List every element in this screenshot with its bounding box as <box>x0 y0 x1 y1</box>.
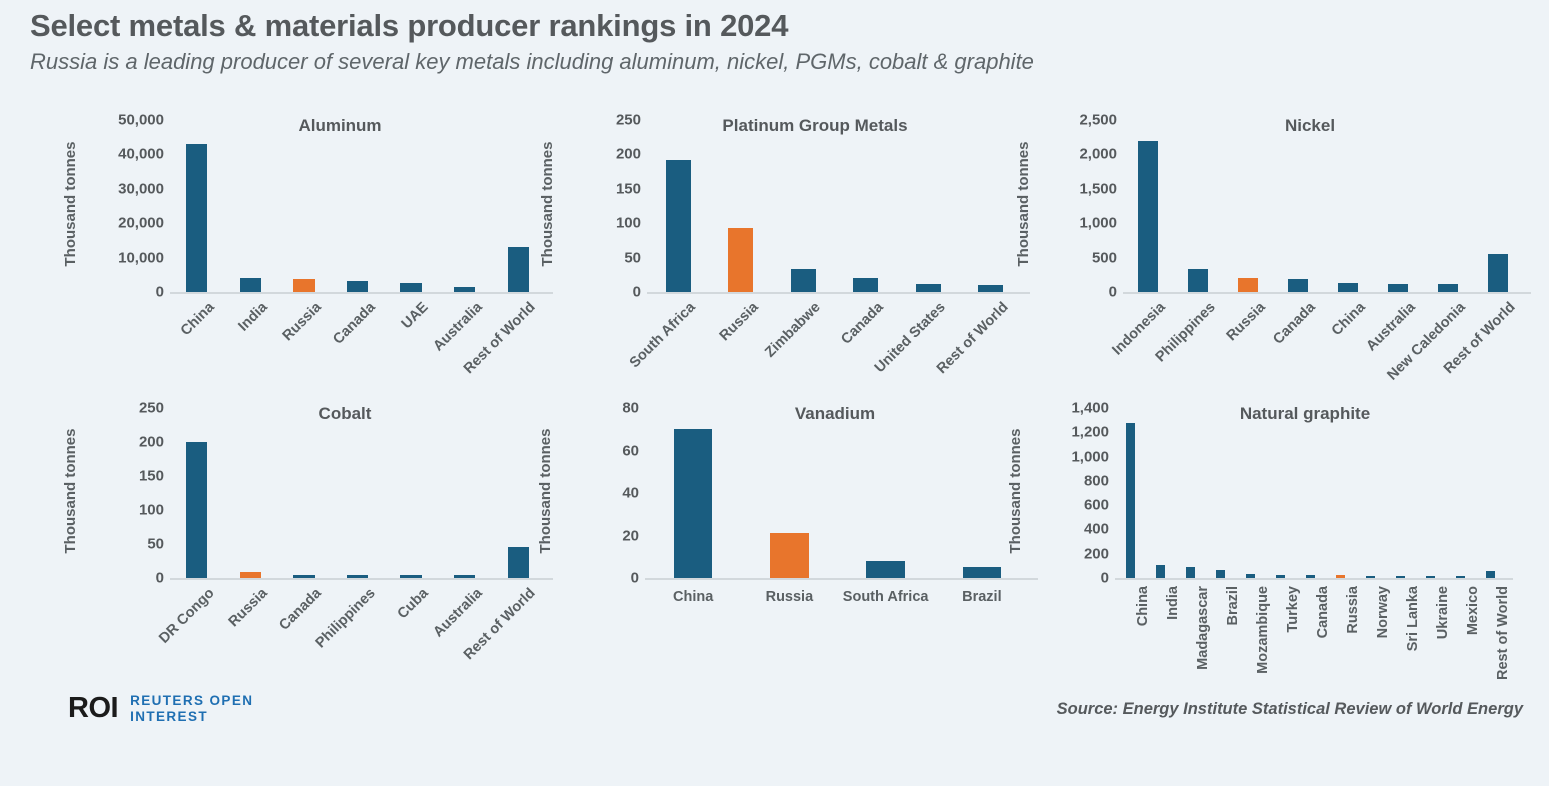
plot-area <box>647 120 1022 292</box>
y-tick-label: 1,200 <box>1071 425 1109 440</box>
y-tick-label: 1,000 <box>1079 216 1117 231</box>
chart-panel-nickel: NickelThousand tonnes05001,0001,5002,000… <box>985 108 1545 398</box>
y-tick-label: 60 <box>622 443 639 458</box>
y-axis-label: Thousand tonnes <box>539 116 556 292</box>
chart-panel-aluminum: AluminumThousand tonnes010,00020,00030,0… <box>30 108 530 398</box>
y-tick-label: 10,000 <box>118 250 164 265</box>
x-axis-line <box>1115 578 1513 580</box>
x-axis-line <box>1123 292 1531 294</box>
bar <box>293 279 314 292</box>
bar <box>866 561 905 578</box>
footer: ROI REUTERS OPEN INTEREST Source: Energy… <box>0 684 1549 754</box>
y-axis-label: Thousand tonnes <box>1007 404 1024 578</box>
plot-area <box>1115 408 1505 578</box>
y-tick-label: 40 <box>622 486 639 501</box>
x-axis-labels: South AfricaRussiaZimbabweCanadaUnited S… <box>647 300 1022 410</box>
y-tick-label: 250 <box>616 113 641 128</box>
y-tick-label: 150 <box>139 469 164 484</box>
bar <box>1216 570 1225 579</box>
y-axis-label: Thousand tonnes <box>1015 116 1032 292</box>
chart-panel-cobalt: CobaltThousand tonnes050100150200250DR C… <box>30 396 530 686</box>
bar <box>186 442 207 578</box>
bar <box>1126 423 1135 578</box>
bar <box>1156 565 1165 578</box>
y-tick-label: 0 <box>156 285 164 300</box>
source-note: Source: Energy Institute Statistical Rev… <box>1057 700 1523 719</box>
bar <box>1388 284 1408 292</box>
x-axis-line <box>170 578 553 580</box>
bar <box>1486 571 1495 578</box>
y-tick-label: 50,000 <box>118 113 164 128</box>
y-tick-label: 40,000 <box>118 147 164 162</box>
bar <box>728 228 753 292</box>
y-tick-label: 200 <box>1084 546 1109 561</box>
logo-mark: ROI <box>68 692 118 725</box>
y-tick-label: 100 <box>139 503 164 518</box>
bar <box>347 281 368 292</box>
logo-wordmark: REUTERS OPEN INTEREST <box>130 693 253 725</box>
y-tick-label: 200 <box>616 147 641 162</box>
bar <box>1138 141 1158 292</box>
roi-logo: ROI REUTERS OPEN INTEREST <box>68 692 253 725</box>
y-axis-ticks: 050100150200250 <box>557 108 641 398</box>
y-tick-label: 30,000 <box>118 181 164 196</box>
x-axis-labels: ChinaIndiaMadagascarBrazilMozambiqueTurk… <box>1115 586 1505 696</box>
bar <box>186 144 207 292</box>
y-axis-ticks: 02004006008001,0001,2001,400 <box>1025 396 1109 686</box>
bar <box>666 160 691 292</box>
bar <box>1238 278 1258 292</box>
small-multiples-grid: AluminumThousand tonnes010,00020,00030,0… <box>0 108 1549 688</box>
plot-area <box>1123 120 1523 292</box>
y-tick-label: 600 <box>1084 498 1109 513</box>
bar <box>916 284 941 292</box>
y-tick-label: 500 <box>1092 250 1117 265</box>
y-tick-label: 0 <box>1101 571 1109 586</box>
y-axis-label: Thousand tonnes <box>62 404 79 578</box>
bar <box>674 429 713 578</box>
page-title: Select metals & materials producer ranki… <box>30 6 1520 46</box>
chart-panel-platinum-group-metals: Platinum Group MetalsThousand tonnes0501… <box>510 108 1010 398</box>
y-tick-label: 80 <box>622 401 639 416</box>
page-subtitle: Russia is a leading producer of several … <box>30 46 1520 78</box>
plot-area <box>170 120 545 292</box>
bar <box>1338 283 1358 292</box>
header: Select metals & materials producer ranki… <box>30 6 1520 78</box>
x-axis-line <box>170 292 553 294</box>
y-tick-label: 1,400 <box>1071 401 1109 416</box>
y-tick-label: 0 <box>156 571 164 586</box>
y-tick-label: 200 <box>139 435 164 450</box>
y-tick-label: 150 <box>616 181 641 196</box>
bar <box>1188 269 1208 292</box>
bar <box>853 278 878 292</box>
logo-wordmark-line2: INTEREST <box>130 709 253 725</box>
x-axis-labels: ChinaIndiaRussiaCanadaUAEAustraliaRest o… <box>170 300 545 410</box>
y-tick-label: 0 <box>633 285 641 300</box>
y-axis-label: Thousand tonnes <box>62 116 79 292</box>
y-tick-label: 1,000 <box>1071 449 1109 464</box>
y-tick-label: 400 <box>1084 522 1109 537</box>
bar <box>770 533 809 578</box>
y-tick-label: 0 <box>631 571 639 586</box>
y-axis-ticks: 020406080 <box>555 396 639 686</box>
y-tick-label: 20,000 <box>118 216 164 231</box>
x-tick-label: China <box>673 590 713 605</box>
bar <box>240 278 261 292</box>
x-axis-labels: ChinaRussiaSouth AfricaBrazil <box>645 586 1030 696</box>
y-tick-label: 50 <box>147 537 164 552</box>
x-axis-labels: DR CongoRussiaCanadaPhilippinesCubaAustr… <box>170 586 545 696</box>
y-tick-label: 50 <box>624 250 641 265</box>
y-tick-label: 20 <box>622 528 639 543</box>
y-tick-label: 800 <box>1084 473 1109 488</box>
bar <box>791 269 816 292</box>
y-tick-label: 250 <box>139 401 164 416</box>
logo-wordmark-line1: REUTERS OPEN <box>130 693 253 709</box>
bar <box>1288 279 1308 292</box>
x-axis-line <box>647 292 1030 294</box>
plot-area <box>645 408 1030 578</box>
y-tick-label: 1,500 <box>1079 181 1117 196</box>
bar <box>1488 254 1508 292</box>
bar <box>400 283 421 292</box>
y-tick-label: 0 <box>1109 285 1117 300</box>
x-axis-line <box>645 578 1038 580</box>
bar <box>1438 284 1458 292</box>
chart-panel-natural-graphite: Natural graphiteThousand tonnes020040060… <box>985 396 1545 686</box>
y-tick-label: 100 <box>616 216 641 231</box>
y-axis-label: Thousand tonnes <box>537 404 554 578</box>
x-tick-label: Russia <box>766 590 814 605</box>
y-tick-label: 2,500 <box>1079 113 1117 128</box>
plot-area <box>170 408 545 578</box>
x-axis-labels: IndonesiaPhilippinesRussiaCanadaChinaAus… <box>1123 300 1523 410</box>
x-tick-label: South Africa <box>843 590 929 605</box>
chart-panel-vanadium: VanadiumThousand tonnes020406080ChinaRus… <box>510 396 1010 686</box>
bar <box>1186 567 1195 578</box>
y-tick-label: 2,000 <box>1079 147 1117 162</box>
